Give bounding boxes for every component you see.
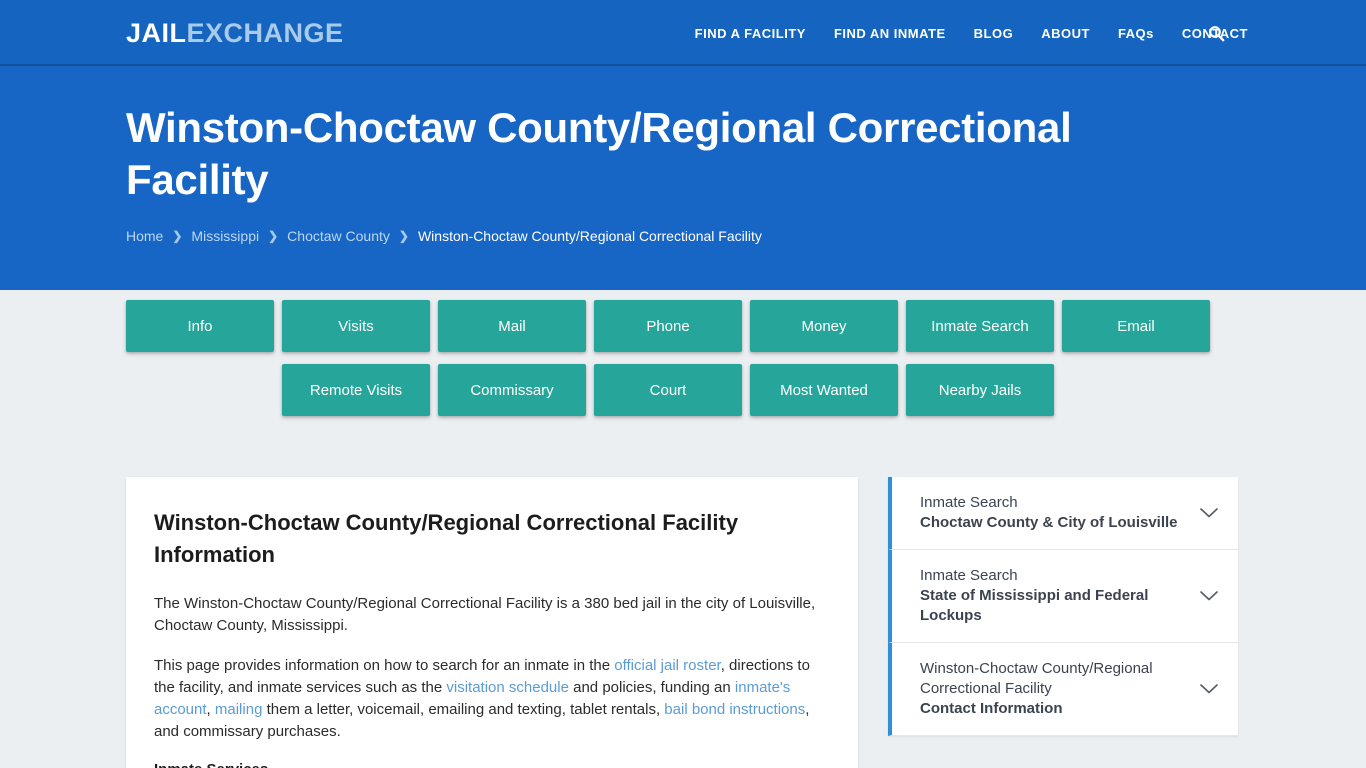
accordion-item-line2: State of Mississippi and Federal Lockups (920, 586, 1196, 626)
accordion-item-line1: Inmate Search (920, 493, 1196, 513)
accordion-item-text: Winston-Choctaw County/Regional Correcti… (920, 659, 1196, 719)
facility-description-paragraph: The Winston-Choctaw County/Regional Corr… (154, 593, 830, 637)
breadcrumb: Home ❯ Mississippi ❯ Choctaw County ❯ Wi… (126, 228, 762, 244)
tab-inmate-search[interactable]: Inmate Search (906, 300, 1054, 352)
accordion-item-line1: Winston-Choctaw County/Regional Correcti… (920, 659, 1196, 699)
site-logo[interactable]: JAILEXCHANGE (126, 18, 344, 48)
accordion-item-text: Inmate Search Choctaw County & City of L… (920, 493, 1196, 533)
breadcrumb-chevron-icon: ❯ (399, 229, 409, 243)
breadcrumb-item-mississippi[interactable]: Mississippi (191, 228, 259, 244)
facility-info-card-body: Winston-Choctaw County/Regional Correcti… (126, 477, 858, 768)
breadcrumb-item-choctaw-county[interactable]: Choctaw County (287, 228, 390, 244)
primary-nav-links: FIND A FACILITY FIND AN INMATE BLOG ABOU… (695, 0, 1248, 66)
tab-mail[interactable]: Mail (438, 300, 586, 352)
chevron-down-icon[interactable] (1196, 590, 1222, 602)
breadcrumb-item-current: Winston-Choctaw County/Regional Correcti… (418, 228, 762, 244)
tab-phone[interactable]: Phone (594, 300, 742, 352)
inmate-services-subheading: Inmate Services (154, 761, 830, 768)
accordion-item-contact-information[interactable]: Winston-Choctaw County/Regional Correcti… (888, 643, 1238, 736)
page-title: Winston-Choctaw County/Regional Correcti… (126, 102, 1186, 206)
tab-button-row-1: Info Visits Mail Phone Money Inmate Sear… (126, 300, 1240, 352)
paragraph-text-segment: This page provides information on how to… (154, 657, 614, 674)
accordion-item-inmate-search-state[interactable]: Inmate Search State of Mississippi and F… (888, 550, 1238, 643)
sidebar-accordion: Inmate Search Choctaw County & City of L… (888, 477, 1238, 736)
tab-visits[interactable]: Visits (282, 300, 430, 352)
breadcrumb-item-home[interactable]: Home (126, 228, 163, 244)
tab-button-row-2: Remote Visits Commissary Court Most Want… (282, 364, 1240, 416)
logo-primary-text: JAIL (126, 18, 187, 48)
nav-item-faqs[interactable]: FAQs (1118, 26, 1154, 41)
nav-item-find-an-inmate[interactable]: FIND AN INMATE (834, 26, 946, 41)
facility-tab-buttons: Info Visits Mail Phone Money Inmate Sear… (126, 300, 1240, 428)
tab-commissary[interactable]: Commissary (438, 364, 586, 416)
accordion-item-line1: Inmate Search (920, 566, 1196, 586)
tab-remote-visits[interactable]: Remote Visits (282, 364, 430, 416)
tab-court[interactable]: Court (594, 364, 742, 416)
search-icon[interactable] (1203, 20, 1229, 46)
facility-info-heading: Winston-Choctaw County/Regional Correcti… (154, 507, 830, 571)
link-official-jail-roster[interactable]: official jail roster (614, 657, 720, 674)
tab-most-wanted[interactable]: Most Wanted (750, 364, 898, 416)
top-navigation-bar: JAILEXCHANGE FIND A FACILITY FIND AN INM… (0, 0, 1366, 66)
chevron-down-icon[interactable] (1196, 507, 1222, 519)
accordion-item-inmate-search-county[interactable]: Inmate Search Choctaw County & City of L… (888, 477, 1238, 550)
tab-email[interactable]: Email (1062, 300, 1210, 352)
accordion-item-line2: Choctaw County & City of Louisville (920, 513, 1196, 533)
chevron-down-icon[interactable] (1196, 683, 1222, 695)
nav-item-about[interactable]: ABOUT (1041, 26, 1090, 41)
link-mailing[interactable]: mailing (215, 701, 263, 718)
facility-services-paragraph: This page provides information on how to… (154, 655, 830, 743)
tab-nearby-jails[interactable]: Nearby Jails (906, 364, 1054, 416)
facility-info-card: Winston-Choctaw County/Regional Correcti… (126, 477, 858, 768)
nav-item-blog[interactable]: BLOG (974, 26, 1014, 41)
paragraph-text-segment: , (207, 701, 215, 718)
logo-secondary-text: EXCHANGE (187, 18, 344, 48)
breadcrumb-chevron-icon: ❯ (268, 229, 278, 243)
accordion-item-line2: Contact Information (920, 699, 1196, 719)
tab-info[interactable]: Info (126, 300, 274, 352)
hero-banner: Winston-Choctaw County/Regional Correcti… (0, 66, 1366, 290)
tab-money[interactable]: Money (750, 300, 898, 352)
paragraph-text-segment: and policies, funding an (569, 679, 735, 696)
breadcrumb-chevron-icon: ❯ (172, 229, 182, 243)
link-visitation-schedule[interactable]: visitation schedule (446, 679, 569, 696)
nav-item-find-a-facility[interactable]: FIND A FACILITY (695, 26, 806, 41)
paragraph-text-segment: them a letter, voicemail, emailing and t… (262, 701, 664, 718)
accordion-item-text: Inmate Search State of Mississippi and F… (920, 566, 1196, 626)
link-bail-bond-instructions[interactable]: bail bond instructions (664, 701, 805, 718)
